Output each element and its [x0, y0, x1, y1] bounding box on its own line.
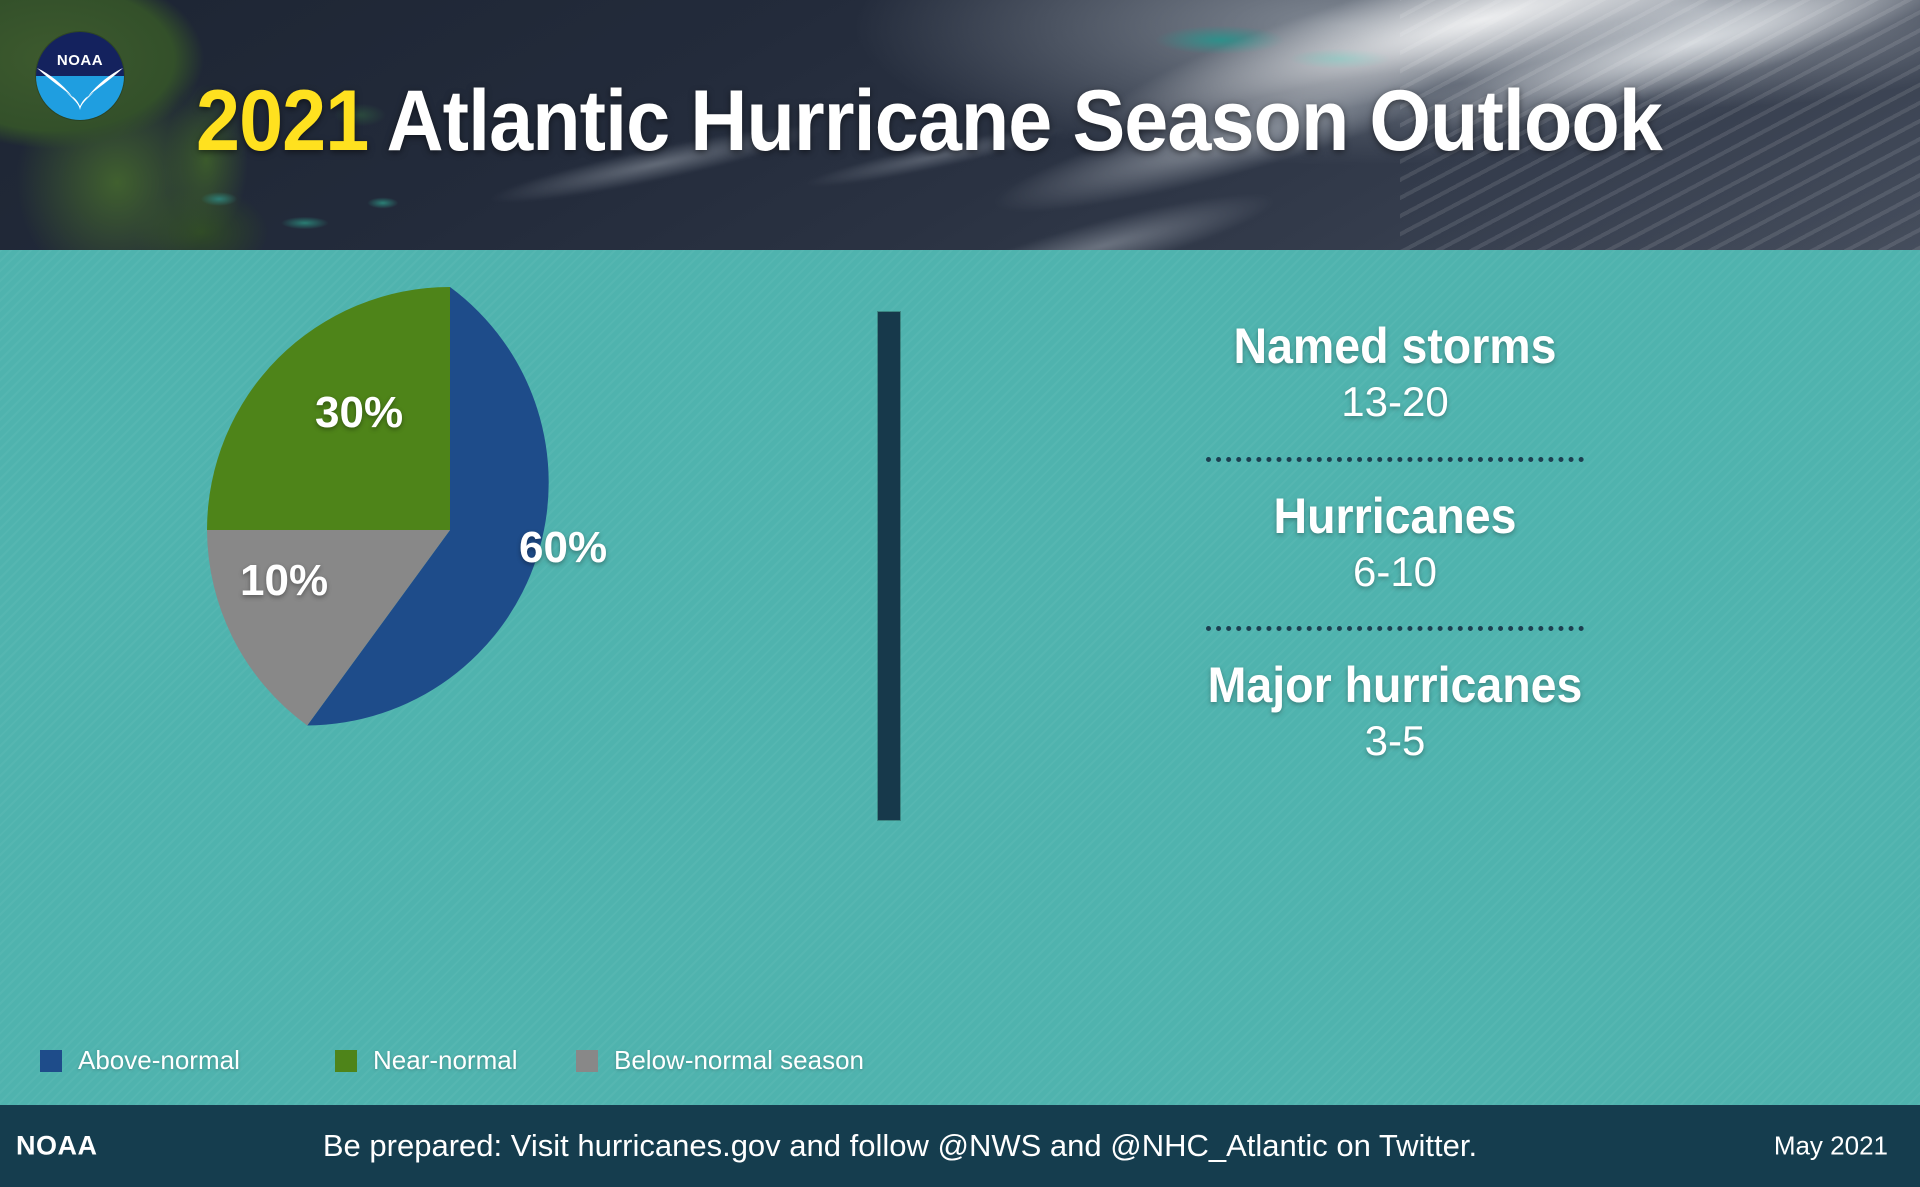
stat-heading-hurricanes: Hurricanes	[1028, 490, 1763, 543]
legend-swatch-above-normal	[40, 1050, 62, 1072]
legend-swatch-near-normal	[335, 1050, 357, 1072]
stat-named-storms: Named storms 13-20	[1000, 320, 1790, 427]
footer-date: May 2021	[1774, 1131, 1888, 1162]
noaa-logo-icon: NOAA	[36, 32, 124, 120]
legend-item-above-normal: Above-normal	[40, 1045, 240, 1076]
stat-separator-1	[1206, 457, 1584, 462]
pie-value-near-normal: 30%	[315, 388, 403, 438]
pie-value-below-normal: 10%	[240, 556, 328, 606]
stat-range-hurricanes: 6-10	[1000, 547, 1790, 597]
cays-layer	[180, 175, 440, 250]
hurricane-outlook-infographic: NOAA 2021 Atlantic Hurricane Season Outl…	[0, 0, 1920, 1187]
noaa-seabird-icon	[36, 32, 124, 120]
stat-hurricanes: Hurricanes 6-10	[1000, 490, 1790, 597]
legend-item-below-normal: Below-normal season	[576, 1045, 864, 1076]
chart-legend: Above-normal Near-normal Below-normal se…	[40, 1045, 870, 1085]
legend-label-near-normal: Near-normal	[373, 1045, 518, 1076]
stat-heading-major-hurricanes: Major hurricanes	[1028, 659, 1763, 712]
legend-item-near-normal: Near-normal	[335, 1045, 518, 1076]
page-title: 2021 Atlantic Hurricane Season Outlook	[196, 78, 1662, 164]
stat-separator-2	[1206, 626, 1584, 631]
stat-major-hurricanes: Major hurricanes 3-5	[1000, 659, 1790, 766]
stat-heading-named-storms: Named storms	[1028, 320, 1763, 373]
forecast-stats-panel: Named storms 13-20 Hurricanes 6-10 Major…	[1000, 320, 1790, 766]
pie-chart-svg	[205, 285, 695, 775]
legend-label-below-normal: Below-normal season	[614, 1045, 864, 1076]
header-banner: NOAA 2021 Atlantic Hurricane Season Outl…	[0, 0, 1920, 250]
stat-range-major-hurricanes: 3-5	[1000, 716, 1790, 766]
title-rest: Atlantic Hurricane Season Outlook	[368, 73, 1662, 169]
legend-swatch-below-normal	[576, 1050, 598, 1072]
pie-value-above-normal: 60%	[519, 523, 607, 573]
vertical-divider	[878, 312, 900, 820]
legend-label-above-normal: Above-normal	[78, 1045, 240, 1076]
stat-range-named-storms: 13-20	[1000, 377, 1790, 427]
footer-message: Be prepared: Visit hurricanes.gov and fo…	[0, 1128, 1920, 1164]
noaa-logo-wordmark: NOAA	[36, 52, 124, 69]
footer-bar: NOAA Be prepared: Visit hurricanes.gov a…	[0, 1105, 1920, 1187]
main-content-area: 60% 30% 10% Above-normal Near-normal Bel…	[0, 250, 1920, 1105]
season-probability-pie-chart: 60% 30% 10%	[205, 285, 695, 775]
title-year: 2021	[196, 73, 368, 169]
